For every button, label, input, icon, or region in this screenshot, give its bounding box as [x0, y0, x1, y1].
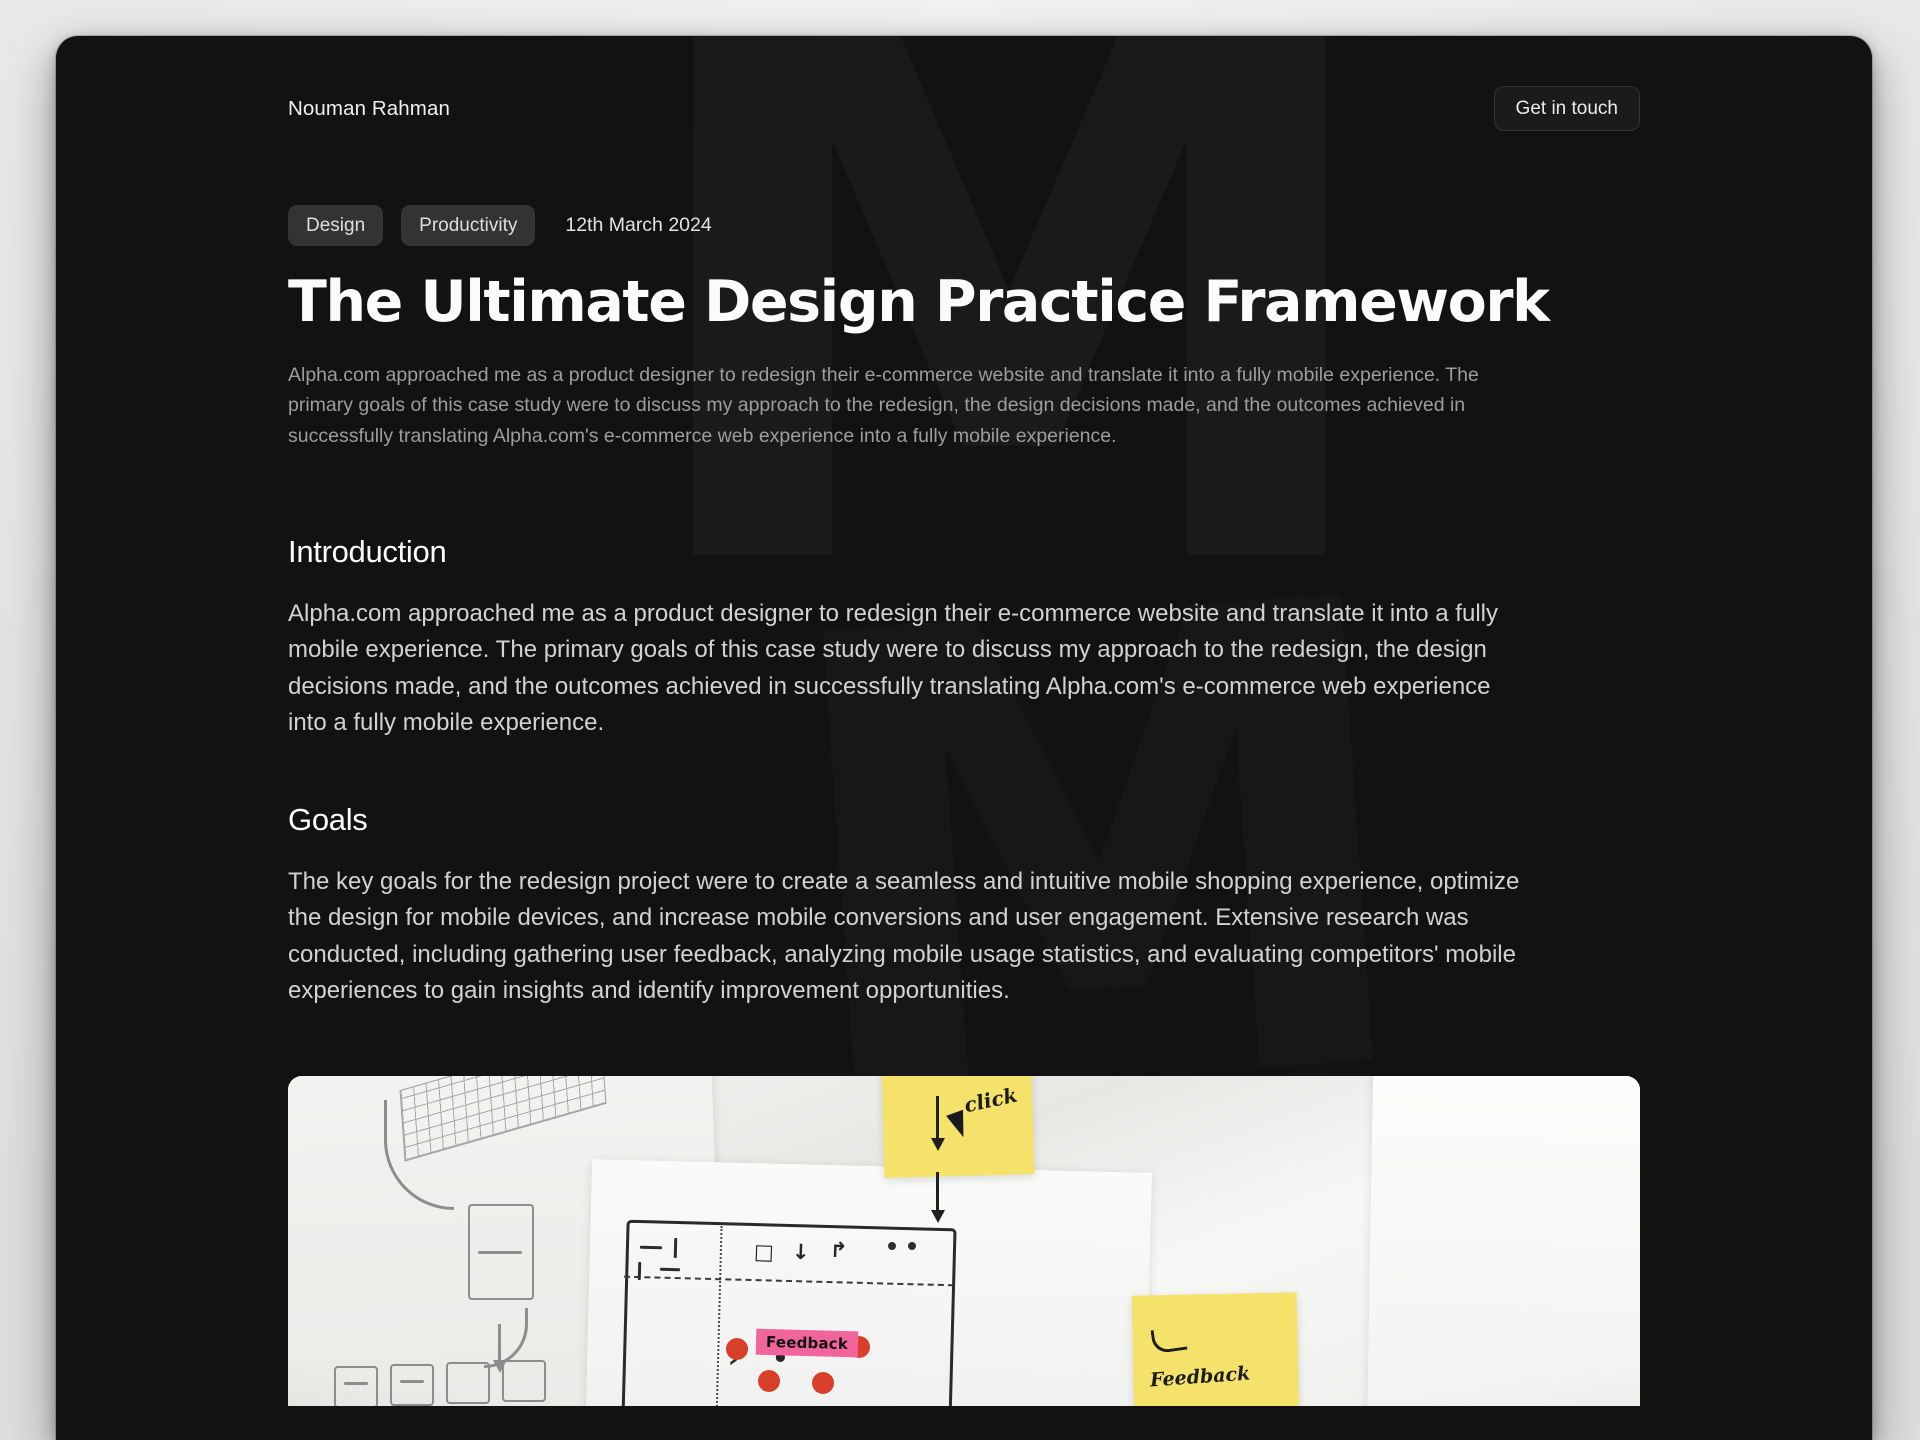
page-title: The Ultimate Design Practice Framework — [288, 272, 1640, 334]
section-introduction: Introduction Alpha.com approached me as … — [288, 534, 1640, 742]
section-body-goals: The key goals for the redesign project w… — [288, 864, 1533, 1010]
tag-design[interactable]: Design — [288, 205, 383, 246]
sticker-dot-4-icon — [812, 1372, 834, 1394]
tag-productivity[interactable]: Productivity — [401, 205, 535, 246]
article-panel: M M Nouman Rahman Get in touch Design Pr… — [56, 36, 1872, 1440]
sketch-thumb-3 — [446, 1362, 490, 1404]
article-content: Nouman Rahman Get in touch Design Produc… — [56, 36, 1872, 1406]
post-date: 12th March 2024 — [565, 214, 711, 237]
sketch-glyph-square-icon: □ — [754, 1239, 775, 1264]
post-excerpt: Alpha.com approached me as a product des… — [288, 360, 1528, 452]
wireframe-dot-2 — [908, 1242, 916, 1250]
sticky-arrow-head-2-icon — [931, 1210, 945, 1223]
wireframe-mark-1 — [640, 1245, 662, 1249]
figure-photo: □ ↓ ↱ › • Feedback click — [288, 1076, 1640, 1406]
sketch-thumb-2 — [390, 1364, 434, 1406]
sticker-dot-1-icon — [726, 1338, 748, 1360]
post-meta-row: Design Productivity 12th March 2024 — [288, 205, 1640, 246]
section-body-introduction: Alpha.com approached me as a product des… — [288, 596, 1533, 742]
wireframe-mark-2 — [674, 1238, 678, 1258]
sticky-arrow-shaft-1 — [936, 1096, 939, 1142]
sticky-arrow-head-1-icon — [931, 1138, 945, 1151]
down-arrow-shaft — [498, 1324, 501, 1364]
paper-sheet-right — [1367, 1076, 1640, 1406]
sketch-line-3 — [400, 1380, 424, 1383]
wireframe-mark-3 — [638, 1262, 641, 1280]
site-header: Nouman Rahman Get in touch — [288, 36, 1640, 131]
sticker-dot-3-icon — [758, 1370, 780, 1392]
get-in-touch-button[interactable]: Get in touch — [1494, 86, 1640, 131]
wireframe-mark-4 — [660, 1267, 680, 1271]
sketch-thumb-1 — [334, 1366, 378, 1406]
article-figure: □ ↓ ↱ › • Feedback click — [288, 1076, 1640, 1406]
section-heading-introduction: Introduction — [288, 534, 1640, 570]
brand-name[interactable]: Nouman Rahman — [288, 97, 450, 121]
sticky-arrow-shaft-2 — [936, 1172, 939, 1214]
page-stage: M M Nouman Rahman Get in touch Design Pr… — [0, 0, 1920, 1440]
wireframe-sketch — [621, 1219, 956, 1405]
sketch-line — [478, 1251, 522, 1254]
section-heading-goals: Goals — [288, 802, 1640, 838]
wireframe-dot-1 — [888, 1242, 896, 1250]
sketch-glyph-arrow-icon: ↱ — [830, 1237, 848, 1262]
sketch-thumb-4 — [502, 1360, 546, 1402]
section-goals: Goals The key goals for the redesign pro… — [288, 802, 1640, 1010]
sketch-glyph-down-icon: ↓ — [792, 1239, 810, 1264]
pink-feedback-label: Feedback — [756, 1328, 859, 1357]
sketch-line-2 — [344, 1382, 368, 1385]
